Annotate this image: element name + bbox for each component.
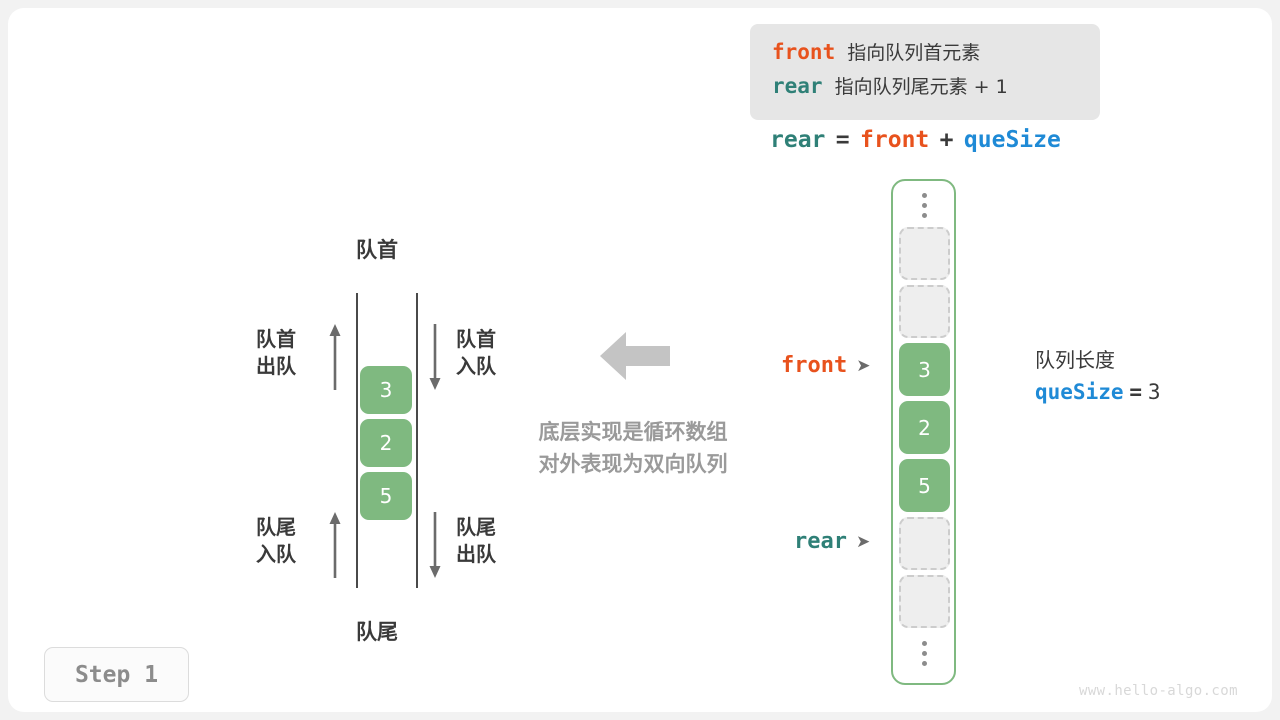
label-rear-enqueue-line2: 入队 (256, 541, 296, 568)
pointer-equation: rear = front + queSize (768, 126, 1063, 153)
arrow-down-rear-dequeue-icon (428, 512, 442, 578)
label-front-enqueue-line2: 入队 (456, 353, 496, 380)
arrow-left-mapping-icon (600, 330, 670, 382)
circular-array: 3 2 5 (891, 179, 956, 685)
legend-front-name: front (772, 40, 835, 64)
label-rear-dequeue-line2: 出队 (456, 541, 496, 568)
arrow-up-front-dequeue-icon (328, 324, 342, 390)
deque-rail-left (356, 293, 358, 588)
pointer-rear-arrow-icon: ➤ (856, 532, 870, 552)
label-front-dequeue: 队首 出队 (256, 326, 296, 380)
deque-cell: 5 (360, 472, 412, 520)
pointer-rear: rear ➤ (794, 529, 870, 554)
center-note-line2: 对外表现为双向队列 (508, 448, 758, 480)
array-ellipsis-top (899, 185, 950, 225)
label-front-dequeue-line2: 出队 (256, 353, 296, 380)
quesize-note-expression: queSize = 3 (1035, 375, 1161, 410)
equation-lhs: rear (770, 127, 825, 153)
quesize-name: queSize (1035, 380, 1124, 404)
array-ellipsis-bottom (899, 633, 950, 673)
step-badge: Step 1 (44, 647, 189, 702)
label-front-dequeue-line1: 队首 (256, 326, 296, 353)
array-cell-empty (899, 575, 950, 628)
array-cell-filled: 3 (899, 343, 950, 396)
quesize-note-title: 队列长度 (1035, 345, 1161, 375)
array-cell-filled: 2 (899, 401, 950, 454)
label-front-enqueue-line1: 队首 (456, 326, 496, 353)
deque-head-label: 队首 (356, 234, 398, 264)
deque-rail-right (416, 293, 418, 588)
pointer-front-arrow-icon: ➤ (856, 356, 870, 376)
equation-quesize: queSize (964, 127, 1061, 153)
label-rear-enqueue: 队尾 入队 (256, 514, 296, 568)
pointer-rear-label: rear (794, 529, 847, 554)
center-note-line1: 底层实现是循环数组 (508, 416, 758, 448)
legend-row-front: front 指向队列首元素 (772, 38, 1080, 72)
label-rear-enqueue-line1: 队尾 (256, 514, 296, 541)
pointer-front-label: front (781, 353, 847, 378)
quesize-note: 队列长度 queSize = 3 (1035, 345, 1161, 410)
pointer-legend-box: front 指向队列首元素 rear 指向队列尾元素 + 1 (750, 24, 1100, 120)
deque-diagram: 队首 队尾 3 2 5 队首 出队 队尾 入队 队首 入队 (248, 218, 548, 648)
diagram-canvas: front 指向队列首元素 rear 指向队列尾元素 + 1 rear = fr… (8, 8, 1272, 712)
array-cell-empty (899, 285, 950, 338)
equation-front: front (860, 127, 929, 153)
equation-plus: + (940, 127, 954, 153)
watermark: www.hello-algo.com (1079, 683, 1238, 699)
arrow-down-front-enqueue-icon (428, 324, 442, 390)
deque-cell: 3 (360, 366, 412, 414)
arrow-up-rear-enqueue-icon (328, 512, 342, 578)
pointer-front: front ➤ (781, 353, 870, 378)
equation-equals: = (836, 127, 850, 153)
legend-row-rear: rear 指向队列尾元素 + 1 (772, 72, 1080, 106)
array-cell-empty (899, 517, 950, 570)
label-front-enqueue: 队首 入队 (456, 326, 496, 380)
deque-tail-label: 队尾 (356, 616, 398, 646)
quesize-equals: = (1129, 380, 1142, 404)
quesize-value: 3 (1148, 380, 1161, 404)
legend-rear-desc: 指向队列尾元素 + 1 (835, 72, 1008, 99)
deque-cell: 2 (360, 419, 412, 467)
center-note: 底层实现是循环数组 对外表现为双向队列 (508, 416, 758, 480)
array-cell-empty (899, 227, 950, 280)
legend-rear-name: rear (772, 74, 823, 98)
legend-front-desc: 指向队列首元素 (847, 38, 980, 65)
array-cell-filled: 5 (899, 459, 950, 512)
label-rear-dequeue: 队尾 出队 (456, 514, 496, 568)
label-rear-dequeue-line1: 队尾 (456, 514, 496, 541)
